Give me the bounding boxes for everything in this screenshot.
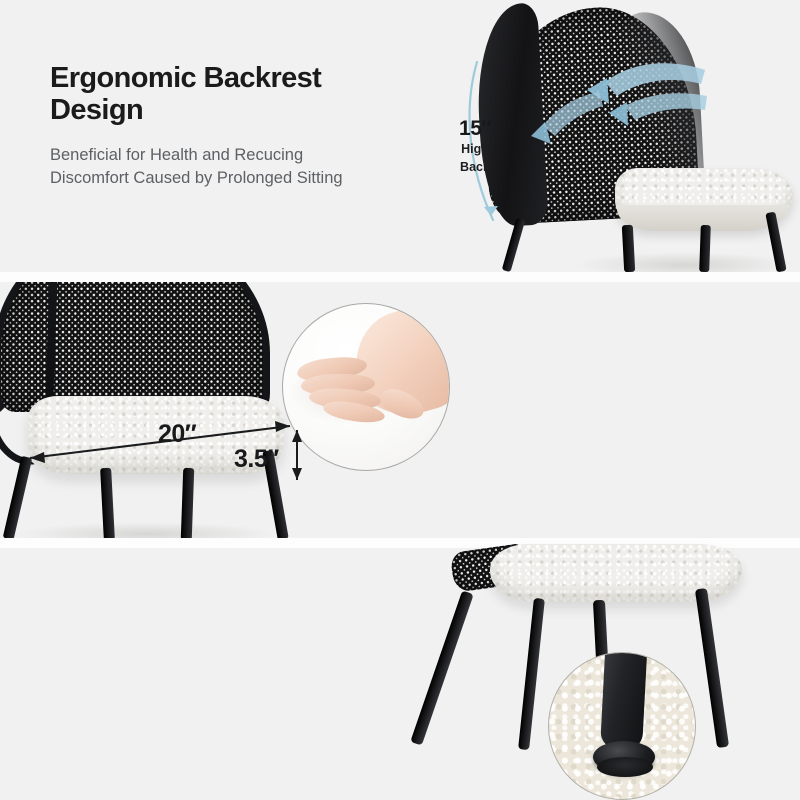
chair-front-view-image <box>0 282 316 538</box>
back-height-line-2: Back <box>449 160 501 175</box>
back-height-line-1: High <box>449 142 501 157</box>
section-1-subtext: Beneficial for Health and Recucing Disco… <box>50 144 420 191</box>
seat-width-label: 20″ <box>158 420 196 449</box>
back-height-value: 15″ <box>449 118 501 139</box>
section-ergonomic-backrest: Ergonomic Backrest Design Beneficial for… <box>0 0 800 272</box>
chair-leg <box>100 468 115 538</box>
chair-legs-closeup-image <box>430 548 800 800</box>
chair-leg <box>622 225 635 272</box>
seat-thickness-label: 3.5″ <box>234 445 279 474</box>
chair-shadow <box>16 522 276 538</box>
section-divider <box>0 272 800 282</box>
chair-leg <box>502 218 526 272</box>
anti-slip-foot-inset <box>548 652 696 800</box>
section-1-headline: Ergonomic Backrest Design <box>50 62 410 127</box>
chair-leg <box>699 225 711 272</box>
chair-leg <box>695 588 729 748</box>
sponge-press-test-inset <box>282 303 450 471</box>
chair-side-view-image <box>455 0 800 272</box>
backrest-frame-edge <box>473 2 549 227</box>
back-height-callout: 15″ High Back <box>449 118 501 175</box>
chair-leg <box>3 456 33 538</box>
chair-leg <box>518 598 545 750</box>
chair-shadow <box>575 252 795 272</box>
chair-leg-magnified <box>600 652 648 750</box>
infographic-page: Ergonomic Backrest Design Beneficial for… <box>0 0 800 800</box>
anti-slip-foot-base <box>597 757 653 777</box>
